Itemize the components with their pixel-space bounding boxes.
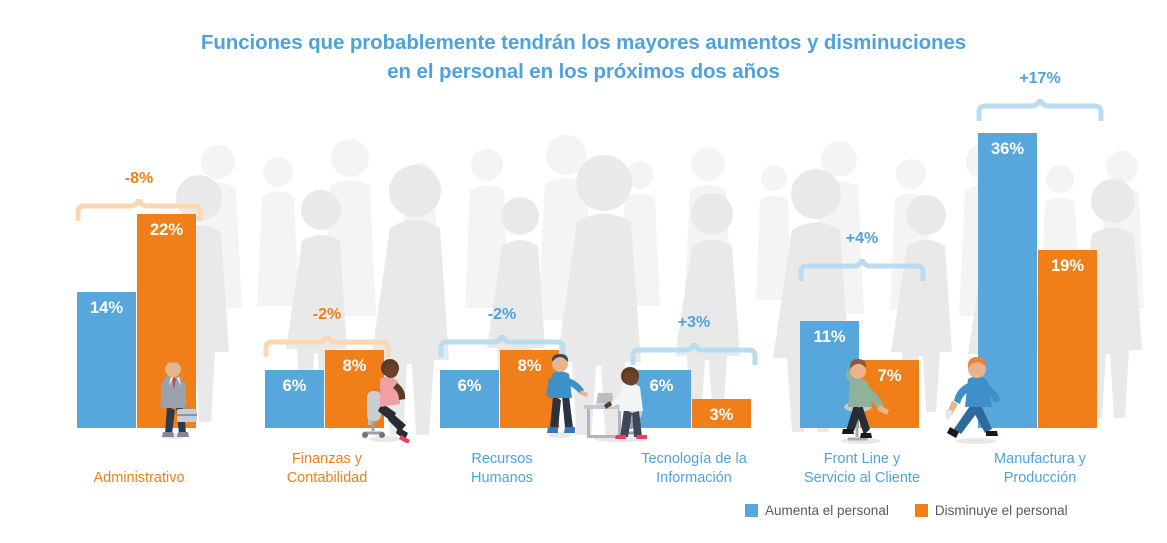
bar-aumenta-finanzas-contabilidad: 6% (265, 370, 324, 428)
bar-group-finanzas-contabilidad: -2% 6% 8% (265, 0, 389, 543)
plot-area: -8% 14% 22% (0, 0, 1167, 543)
bar-disminuye-front-line-servicio-cliente: 7% (860, 360, 919, 428)
legend-swatch-orange-icon (915, 504, 928, 517)
delta-bracket-manufactura-produccion (976, 99, 1104, 121)
delta-label-recursos-humanos: -2% (438, 306, 566, 324)
legend-label-aumenta: Aumenta el personal (765, 503, 889, 518)
category-label-tecnologia-informacion: Tecnología de la Información (599, 450, 789, 488)
bar-group-front-line-servicio-cliente: +4% 11% 7% (800, 0, 924, 543)
delta-label-tecnologia-informacion: +3% (630, 314, 758, 332)
bar-group-manufactura-produccion: +17% 36% 19% Manufactura (978, 0, 1102, 543)
delta-label-manufactura-produccion: +17% (976, 70, 1104, 88)
infographic-chart: Funciones que probablemente tendrán los … (0, 0, 1167, 543)
bar-value-disminuye-manufactura-produccion: 19% (1038, 257, 1097, 276)
bar-aumenta-front-line-servicio-cliente: 11% (800, 321, 859, 428)
delta-label-administrativo: -8% (75, 170, 203, 188)
delta-label-front-line-servicio-cliente: +4% (798, 230, 926, 248)
bar-group-recursos-humanos: -2% 6% 8% Recursos Humanos (440, 0, 564, 543)
legend-swatch-blue-icon (745, 504, 758, 517)
bar-value-aumenta-administrativo: 14% (77, 299, 136, 318)
bar-disminuye-tecnologia-informacion: 3% (692, 399, 751, 428)
bar-value-disminuye-administrativo: 22% (137, 221, 196, 240)
bar-value-disminuye-tecnologia-informacion: 3% (692, 406, 751, 425)
bar-group-tecnologia-informacion: +3% 6% 3% (632, 0, 756, 543)
bar-disminuye-manufactura-produccion: 19% (1038, 250, 1097, 428)
bar-aumenta-recursos-humanos: 6% (440, 370, 499, 428)
delta-label-finanzas-contabilidad: -2% (263, 306, 391, 324)
legend-item-aumenta[interactable]: Aumenta el personal (745, 503, 889, 518)
bar-aumenta-manufactura-produccion: 36% (978, 133, 1037, 428)
bar-value-disminuye-front-line-servicio-cliente: 7% (860, 367, 919, 386)
bar-aumenta-tecnologia-informacion: 6% (632, 370, 691, 428)
bar-value-disminuye-recursos-humanos: 8% (500, 357, 559, 376)
bar-disminuye-finanzas-contabilidad: 8% (325, 350, 384, 428)
category-label-finanzas-contabilidad: Finanzas y Contabilidad (232, 450, 422, 488)
bar-value-aumenta-manufactura-produccion: 36% (978, 140, 1037, 159)
chart-legend: Aumenta el personal Disminuye el persona… (745, 503, 1068, 518)
bar-aumenta-administrativo: 14% (77, 292, 136, 428)
bar-group-administrativo: -8% 14% 22% (77, 0, 201, 543)
legend-item-disminuye[interactable]: Disminuye el personal (915, 503, 1068, 518)
delta-bracket-front-line-servicio-cliente (798, 259, 926, 281)
category-label-administrativo: Administrativo (44, 469, 234, 488)
bar-value-aumenta-recursos-humanos: 6% (440, 377, 499, 396)
bar-disminuye-administrativo: 22% (137, 214, 196, 428)
bar-value-aumenta-tecnologia-informacion: 6% (632, 377, 691, 396)
bar-value-aumenta-finanzas-contabilidad: 6% (265, 377, 324, 396)
category-label-recursos-humanos: Recursos Humanos (407, 450, 597, 488)
category-label-manufactura-produccion: Manufactura y Producción (945, 450, 1135, 488)
bar-value-aumenta-front-line-servicio-cliente: 11% (800, 328, 859, 347)
bar-value-disminuye-finanzas-contabilidad: 8% (325, 357, 384, 376)
delta-bracket-tecnologia-informacion (630, 343, 758, 365)
bar-disminuye-recursos-humanos: 8% (500, 350, 559, 428)
category-label-front-line-servicio-cliente: Front Line y Servicio al Cliente (767, 450, 957, 488)
legend-label-disminuye: Disminuye el personal (935, 503, 1068, 518)
